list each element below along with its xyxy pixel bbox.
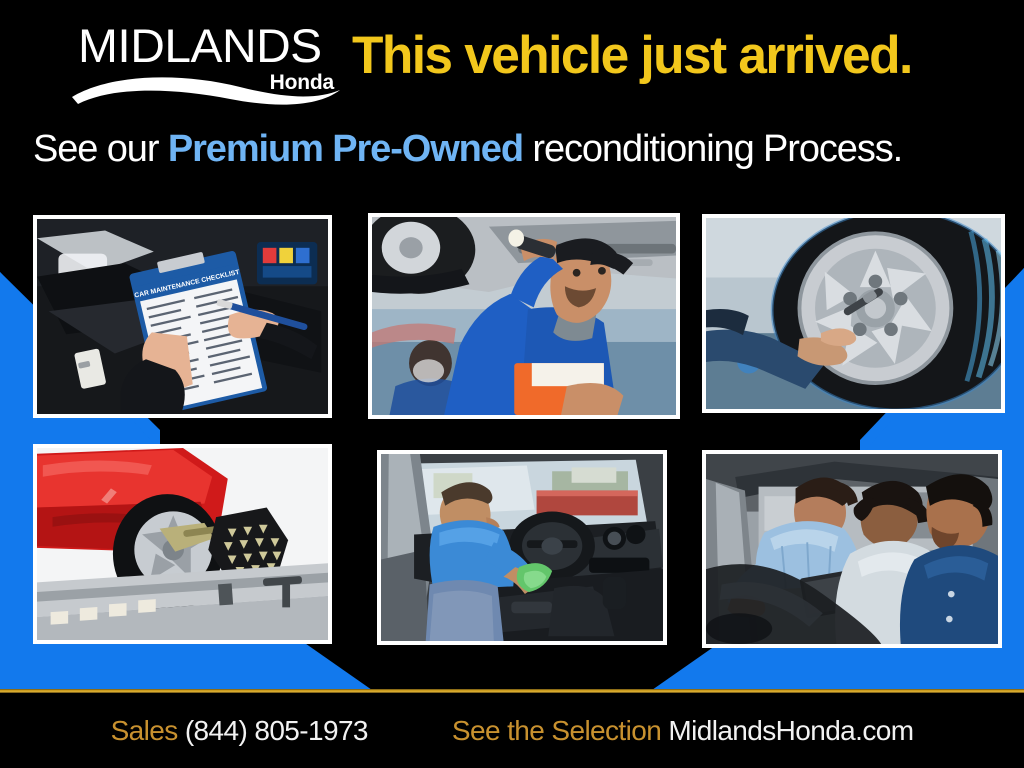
subtitle-accent: Premium Pre-Owned — [168, 128, 523, 170]
gallery-tile-wheel-service[interactable] — [702, 214, 1005, 413]
sales-label: Sales — [111, 715, 178, 746]
promo-banner: MIDLANDS Honda This vehicle just arrived… — [0, 0, 1024, 768]
gallery-tile-interior-detailing[interactable] — [377, 450, 667, 645]
page-subtitle: See our Premium Pre-Owned reconditioning… — [33, 126, 902, 172]
sales-phone-block[interactable]: Sales (844) 805-1973 — [111, 714, 368, 748]
footer: Sales (844) 805-1973 See the Selection M… — [0, 693, 1024, 768]
subtitle-before: See our — [33, 128, 168, 170]
wheel-alignment-photo — [37, 448, 328, 640]
selection-label: See the Selection — [452, 715, 661, 746]
header: MIDLANDS Honda This vehicle just arrived… — [0, 0, 1024, 192]
gallery-tile-undercarriage-inspection[interactable] — [368, 213, 680, 419]
gallery-tile-customer-delivery[interactable] — [702, 450, 1002, 648]
gallery-tile-wheel-alignment[interactable] — [33, 444, 332, 644]
customer-delivery-photo — [706, 454, 998, 644]
subtitle-after: reconditioning Process. — [523, 128, 902, 170]
brand-logo[interactable]: MIDLANDS Honda — [70, 22, 340, 106]
undercarriage-inspection-photo — [372, 217, 676, 415]
wheel-service-photo — [706, 218, 1001, 409]
brand-logo-wordmark: MIDLANDS — [78, 22, 322, 69]
honda-swoosh-icon — [70, 66, 342, 108]
selection-website-block[interactable]: See the Selection MidlandsHonda.com — [452, 714, 914, 748]
website-url[interactable]: MidlandsHonda.com — [668, 715, 913, 746]
sales-phone-number[interactable]: (844) 805-1973 — [185, 715, 368, 746]
page-title: This vehicle just arrived. — [352, 26, 912, 86]
inspection-checklist-photo: CAR MAINTENANCE CHECKLIST — [37, 219, 328, 414]
interior-detailing-photo — [381, 454, 663, 641]
gallery-tile-inspection-checklist[interactable]: CAR MAINTENANCE CHECKLIST — [33, 215, 332, 418]
